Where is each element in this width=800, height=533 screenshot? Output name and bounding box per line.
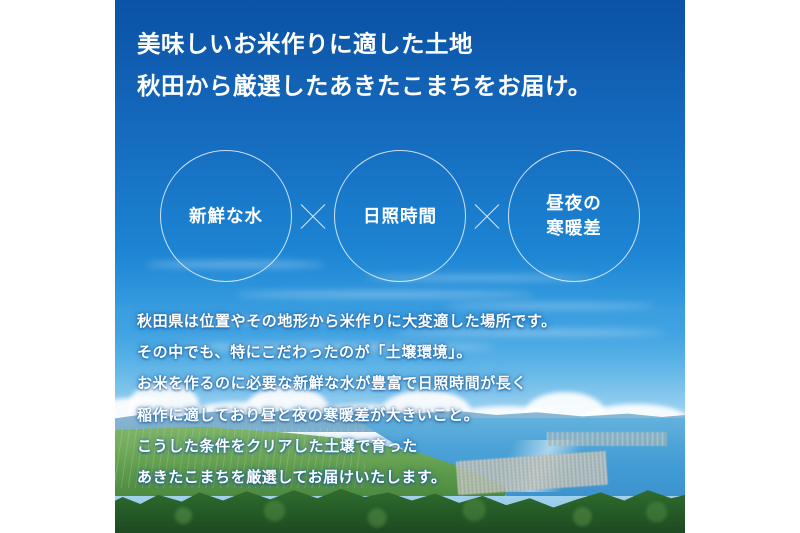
body-line-6: あきたこまちを厳選してお届けいたします。 <box>137 462 667 493</box>
headline-line-1: 美味しいお米作りに適した土地 <box>137 24 663 66</box>
body-line-3: お米を作るのに必要な新鮮な水が豊富で日照時間が長く <box>137 368 667 399</box>
body-line-5: こうした条件をクリアした土壌で育った <box>137 431 667 462</box>
multiply-icon-1 <box>292 195 334 237</box>
factor-label-line-1: 日照時間 <box>363 204 437 229</box>
body-copy: 秋田県は位置やその地形から米作りに大変適した場所です。 その中でも、特にこだわっ… <box>137 306 667 493</box>
body-line-2: その中でも、特にこだわったのが「土壌環境」。 <box>137 337 667 368</box>
headline-line-2: 秋田から厳選したあきたこまちをお届け。 <box>137 66 663 108</box>
factor-label-line-1: 新鮮な水 <box>189 204 263 229</box>
factor-circle-day-night-temperature-range: 昼夜の 寒暖差 <box>508 150 640 282</box>
body-line-4: 稲作に適しており昼と夜の寒暖差が大きいこと。 <box>137 400 667 431</box>
factor-circle-sunshine-hours: 日照時間 <box>334 150 466 282</box>
factor-circle-fresh-water: 新鮮な水 <box>160 150 292 282</box>
factor-label-line-2: 寒暖差 <box>546 216 602 241</box>
headline: 美味しいお米作りに適した土地 秋田から厳選したあきたこまちをお届け。 <box>137 24 663 108</box>
promotional-banner-image: 美味しいお米作りに適した土地 秋田から厳選したあきたこまちをお届け。 新鮮な水 … <box>115 0 685 533</box>
factor-label-line-1: 昼夜の <box>546 191 602 216</box>
body-line-1: 秋田県は位置やその地形から米作りに大変適した場所です。 <box>137 306 667 337</box>
factor-circles-row: 新鮮な水 日照時間 昼夜の 寒暖差 <box>115 148 685 284</box>
page-canvas: 美味しいお米作りに適した土地 秋田から厳選したあきたこまちをお届け。 新鮮な水 … <box>0 0 800 533</box>
multiply-icon-2 <box>466 195 508 237</box>
